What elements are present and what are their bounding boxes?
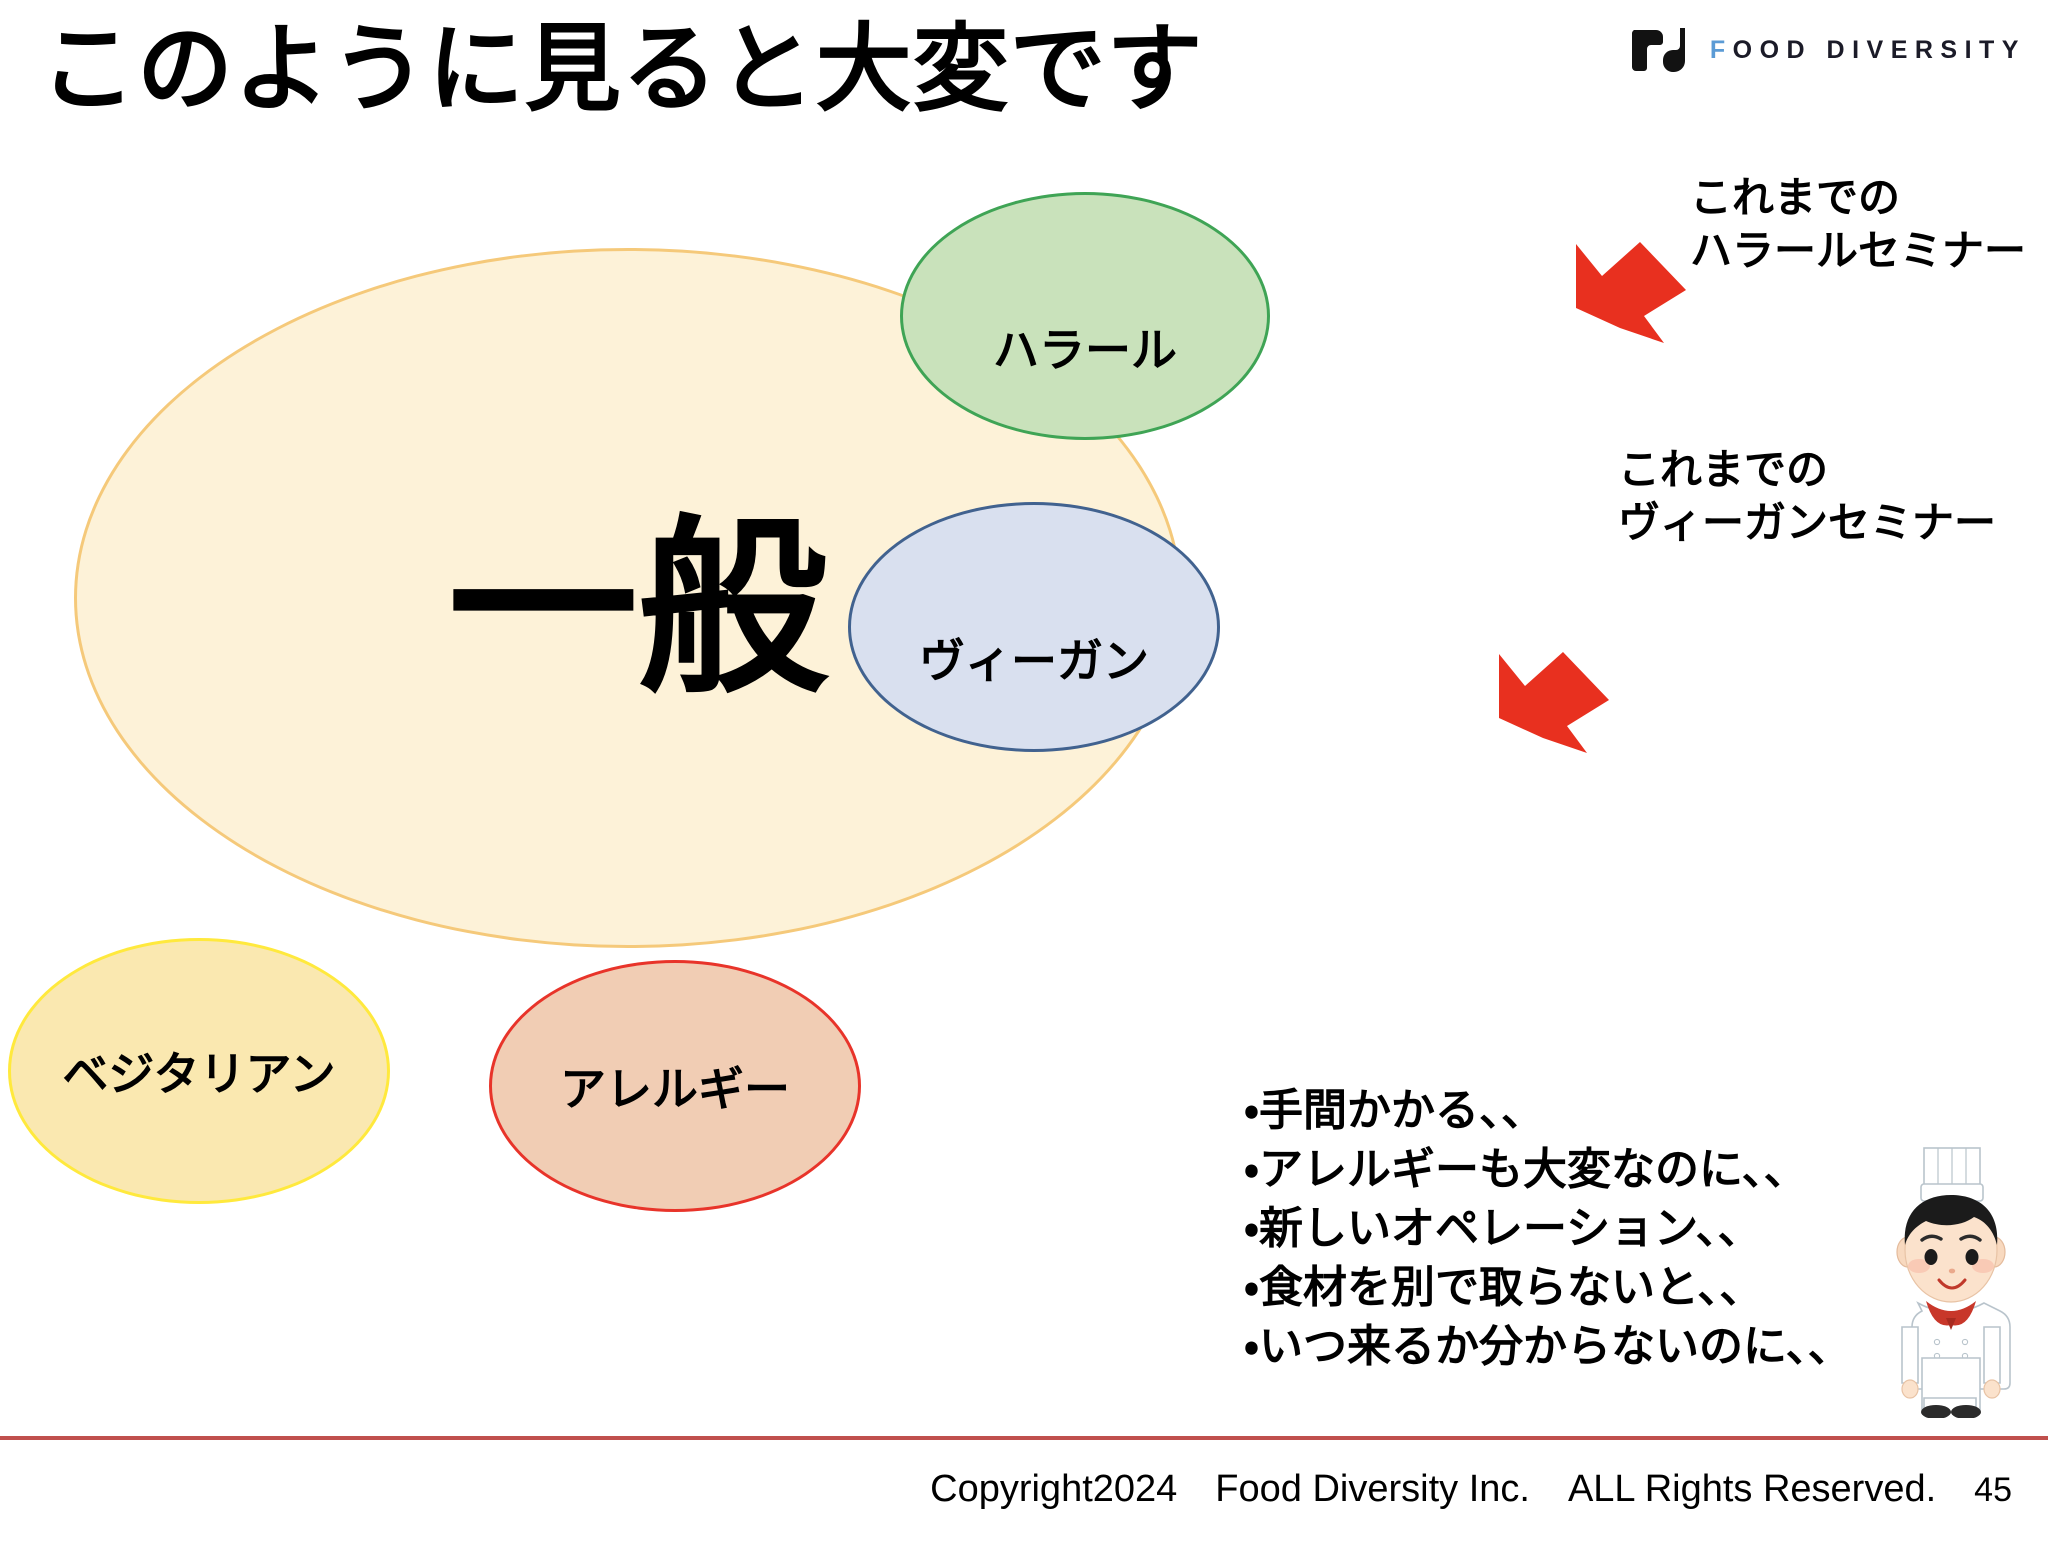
- brand-logo-text: FOOD DIVERSITY: [1710, 36, 2026, 65]
- arrow-down-left-halal-icon: [1572, 228, 1692, 343]
- pain-point-list: ・手間かかる、、 ・アレルギーも大変なのに、、 ・新しいオペレーション、、 ・食…: [1244, 1082, 1852, 1377]
- pain-point-item: ・いつ来るか分からないのに、、: [1244, 1318, 1852, 1377]
- pain-point-item: ・アレルギーも大変なのに、、: [1244, 1141, 1852, 1200]
- callout-halal-line1: これまでの: [1690, 172, 2026, 225]
- callout-vegan-text: これまでの ヴィーガンセミナー: [1618, 444, 1996, 550]
- bubble-halal-label: ハラール: [993, 314, 1177, 380]
- footer-divider: [0, 1436, 2048, 1440]
- arrow-down-left-vegan-icon: [1495, 638, 1615, 753]
- chef-illustration-icon: [1866, 1140, 2036, 1418]
- bubble-vegetarian[interactable]: ベジタリアン: [8, 938, 390, 1204]
- pain-point-item: ・食材を別で取らないと、、: [1244, 1259, 1852, 1318]
- brand-logo-rest: OOD DIVERSITY: [1733, 36, 2026, 64]
- brand-logo: FOOD DIVERSITY: [1632, 26, 2026, 74]
- footer: Copyright2024 Food Diversity Inc. ALL Ri…: [0, 1457, 2048, 1512]
- callout-halal-text: これまでの ハラールセミナー: [1690, 172, 2026, 278]
- callout-halal-line2: ハラールセミナー: [1690, 225, 2026, 278]
- pain-point-item: ・新しいオペレーション、、: [1244, 1200, 1852, 1259]
- footer-copyright: Copyright2024 Food Diversity Inc. ALL Ri…: [930, 1457, 1936, 1512]
- callout-vegan-line1: これまでの: [1618, 444, 1996, 497]
- page-number: 45: [1974, 1471, 2012, 1510]
- bubble-allergy-label: アレルギー: [560, 1053, 790, 1119]
- bubble-vegetarian-label: ベジタリアン: [62, 1038, 335, 1104]
- page-title: このように見ると大変です: [40, 10, 1204, 130]
- bubble-general-label: 一般: [448, 514, 828, 704]
- fd-logo-icon: [1632, 26, 1688, 74]
- brand-logo-accent-letter: F: [1710, 36, 1733, 64]
- bubble-vegan-label: ヴィーガン: [919, 625, 1149, 691]
- callout-vegan-line2: ヴィーガンセミナー: [1618, 497, 1996, 550]
- bubble-vegan[interactable]: ヴィーガン: [848, 502, 1220, 752]
- bubble-halal[interactable]: ハラール: [900, 192, 1270, 440]
- pain-point-item: ・手間かかる、、: [1244, 1082, 1852, 1141]
- bubble-allergy[interactable]: アレルギー: [489, 960, 861, 1212]
- slide-canvas: このように見ると大変です FOOD DIVERSITY 一般 ハラール ヴィーガ…: [0, 0, 2048, 1541]
